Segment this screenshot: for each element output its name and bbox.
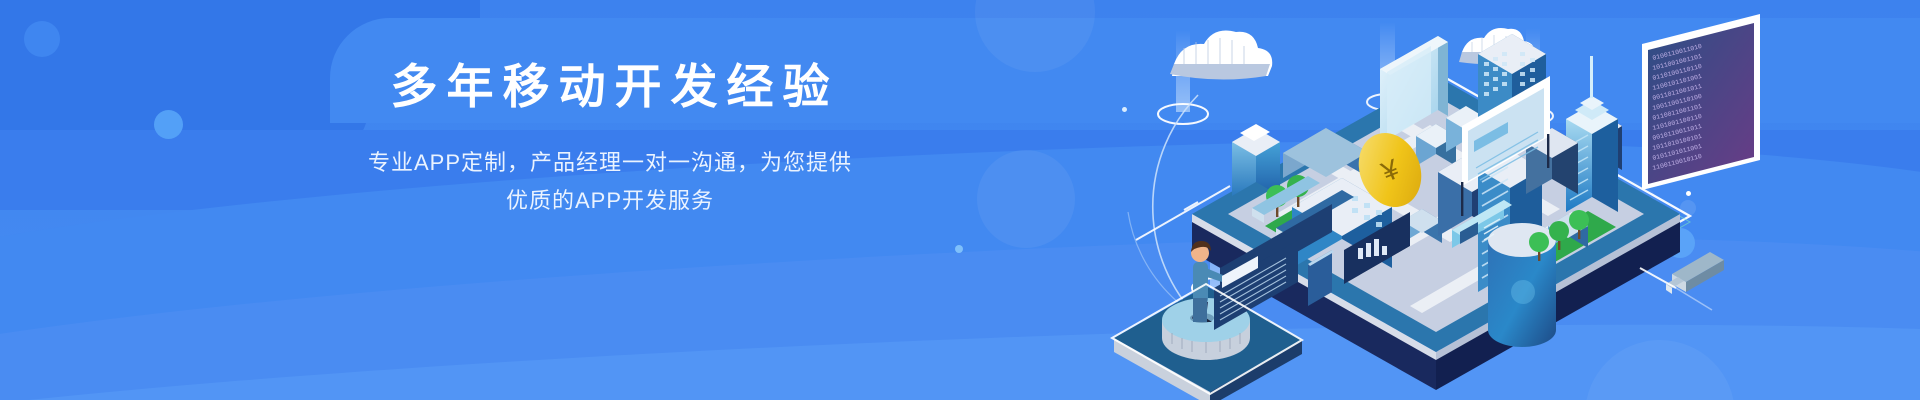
banner-copy: 多年移动开发经验 专业APP定制，产品经理一对一沟通，为您提供 优质的APP开发… bbox=[330, 55, 890, 220]
binary-data-panel: 0100110011010 1011001001101 011010011011… bbox=[1642, 14, 1760, 190]
banner-illustration: ¥ 0100110011010 1011001001101 0110100110… bbox=[1080, 0, 1920, 400]
banner-subtitle-line-1: 专业APP定制，产品经理一对一沟通，为您提供 bbox=[330, 144, 890, 182]
banner-headline: 多年移动开发经验 bbox=[330, 55, 890, 118]
banner-subtitle-line-2: 优质的APP开发服务 bbox=[330, 182, 890, 220]
banner-subtitle: 专业APP定制，产品经理一对一沟通，为您提供 优质的APP开发服务 bbox=[330, 144, 890, 220]
hero-banner: 多年移动开发经验 专业APP定制，产品经理一对一沟通，为您提供 优质的APP开发… bbox=[0, 0, 1920, 400]
